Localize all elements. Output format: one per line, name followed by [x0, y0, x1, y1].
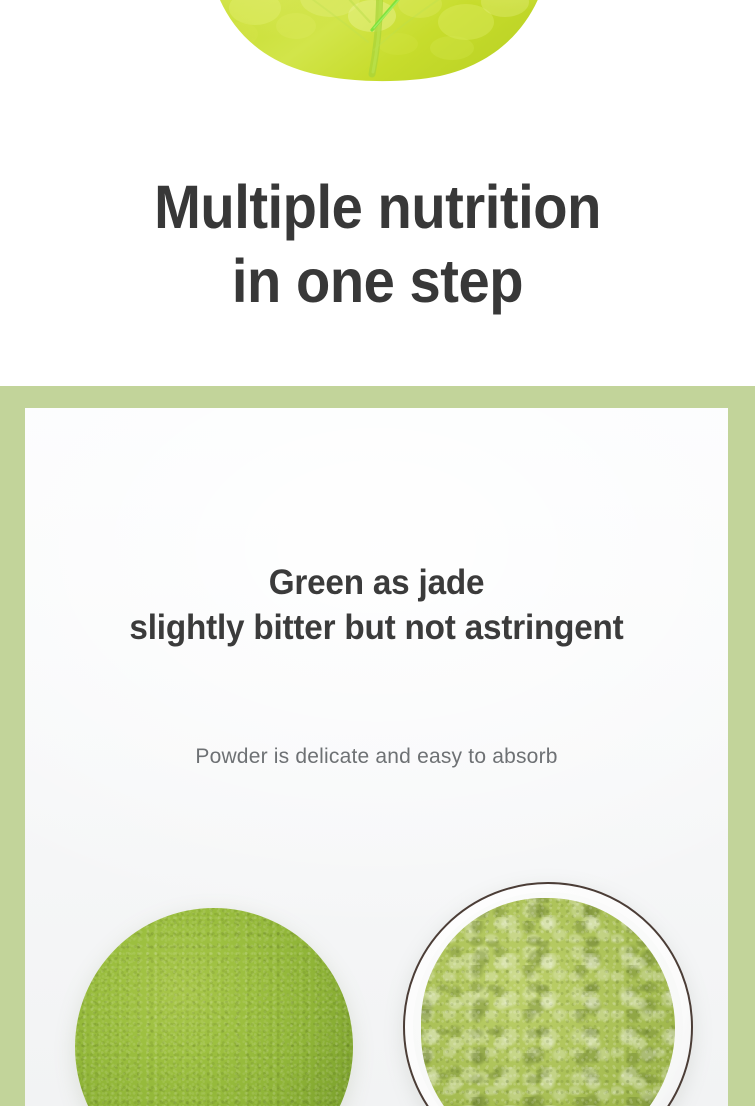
panel-heading: Green as jade slightly bitter but not as…	[25, 560, 728, 650]
green-framed-section: Green as jade slightly bitter but not as…	[0, 386, 755, 1106]
framed-inner-panel: Green as jade slightly bitter but not as…	[25, 408, 728, 1106]
powder-grit-texture	[421, 898, 675, 1106]
matcha-powder-mound	[75, 908, 353, 1106]
powder-grain-texture	[75, 908, 353, 1106]
headline-line-1: Multiple nutrition	[30, 170, 725, 244]
bowl-powder-fill	[421, 898, 675, 1106]
matcha-powder-bowl	[403, 882, 693, 1106]
panel-heading-line-2: slightly bitter but not astringent	[43, 605, 711, 650]
powder-clump-texture	[421, 898, 675, 1106]
leaf-banner	[0, 0, 755, 88]
panel-heading-line-1: Green as jade	[43, 560, 711, 605]
bowl-inner-rim	[413, 892, 683, 1106]
panel-subcopy: Powder is delicate and easy to absorb	[25, 743, 728, 771]
page-title: Multiple nutrition in one step	[0, 170, 755, 318]
headline-line-2: in one step	[30, 244, 725, 318]
product-detail-page: Multiple nutrition in one step	[0, 0, 755, 1106]
tea-leaf-illustration	[0, 0, 755, 88]
